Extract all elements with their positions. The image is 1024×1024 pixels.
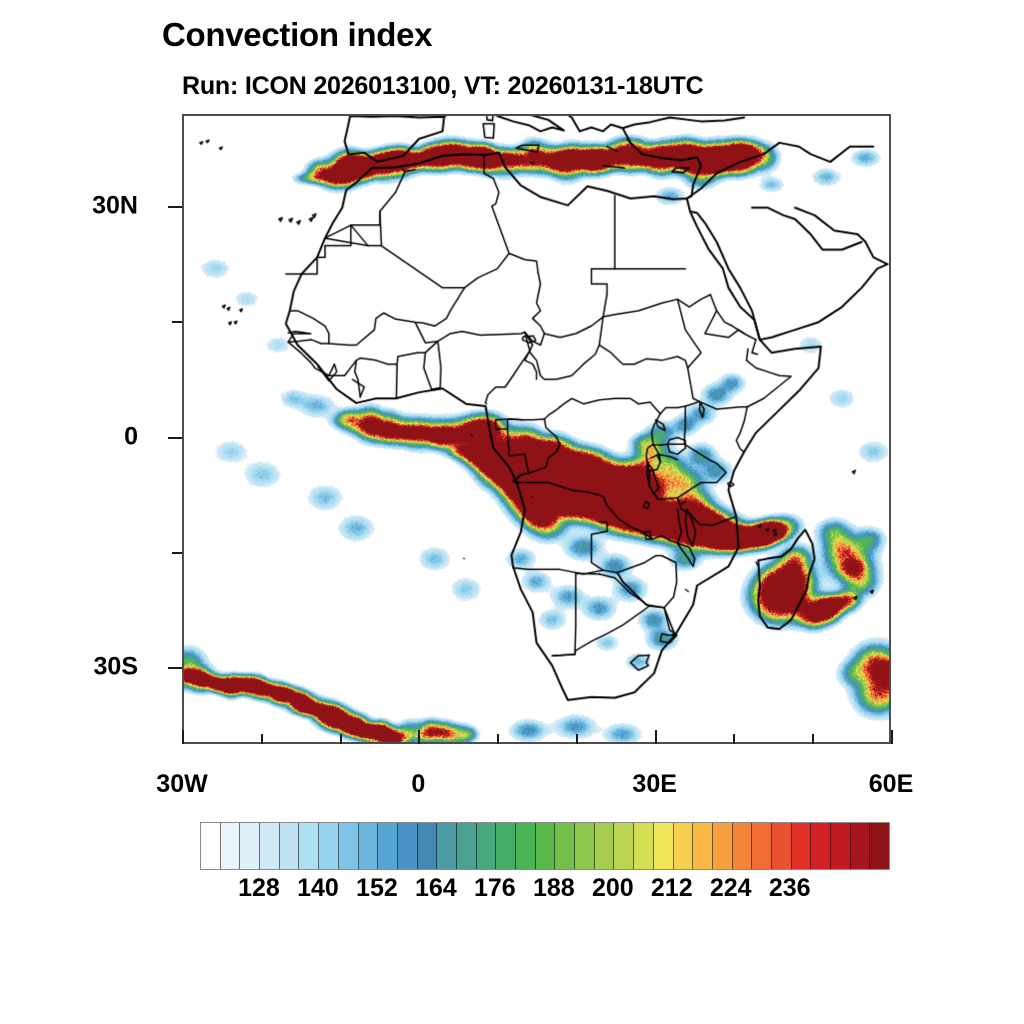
colorbar-cell — [477, 823, 497, 869]
page-title: Convection index — [162, 16, 432, 54]
colorbar-tick-label: 128 — [238, 874, 280, 903]
x-tick-major — [182, 730, 184, 744]
colorbar — [200, 822, 890, 870]
colorbar-cell — [457, 823, 477, 869]
x-tick-minor — [261, 734, 263, 744]
convection-index-raster — [184, 116, 889, 742]
colorbar-tick-label: 200 — [592, 874, 634, 903]
x-tick-major — [418, 730, 420, 744]
colorbar-cell — [575, 823, 595, 869]
colorbar-tick-label: 236 — [769, 874, 811, 903]
colorbar-cell — [398, 823, 418, 869]
colorbar-cell — [831, 823, 851, 869]
colorbar-cell — [733, 823, 753, 869]
y-tick-major — [168, 437, 182, 439]
colorbar-cell — [299, 823, 319, 869]
map-plot-area — [182, 114, 891, 744]
y-tick-label: 0 — [124, 422, 138, 451]
colorbar-tick-label: 212 — [651, 874, 693, 903]
y-tick-major — [168, 206, 182, 208]
colorbar-cell — [378, 823, 398, 869]
y-tick-minor — [172, 552, 182, 554]
colorbar-cell — [240, 823, 260, 869]
colorbar-cell — [201, 823, 221, 869]
colorbar-cell — [221, 823, 241, 869]
colorbar-cell — [752, 823, 772, 869]
colorbar-cell — [811, 823, 831, 869]
colorbar-tick-label: 140 — [297, 874, 339, 903]
x-tick-label: 30E — [632, 770, 676, 799]
colorbar-cell — [634, 823, 654, 869]
colorbar-cell — [870, 823, 889, 869]
x-axis-labels: 30W030E60E — [182, 744, 891, 804]
colorbar-cell — [772, 823, 792, 869]
colorbar-cell — [851, 823, 871, 869]
colorbar-tick-label: 224 — [710, 874, 752, 903]
colorbar-cell — [437, 823, 457, 869]
colorbar-cell — [496, 823, 516, 869]
colorbar-cell — [792, 823, 812, 869]
colorbar-cell — [595, 823, 615, 869]
convection-index-figure: Convection index Run: ICON 2026013100, V… — [0, 0, 1024, 1024]
y-tick-major — [168, 667, 182, 669]
colorbar-tick-label: 188 — [533, 874, 575, 903]
x-tick-label: 30W — [156, 770, 207, 799]
x-tick-minor — [812, 734, 814, 744]
y-tick-label: 30N — [92, 192, 138, 221]
colorbar-cell — [418, 823, 438, 869]
run-valid-time-subtitle: Run: ICON 2026013100, VT: 20260131-18UTC — [182, 72, 703, 101]
colorbar-cell — [359, 823, 379, 869]
colorbar-cell — [614, 823, 634, 869]
x-tick-minor — [576, 734, 578, 744]
y-axis-labels: 30N030S — [0, 114, 160, 744]
colorbar-cell — [536, 823, 556, 869]
colorbar-cell — [555, 823, 575, 869]
colorbar-cell — [260, 823, 280, 869]
colorbar-tick-labels: 128140152164176188200212224236 — [200, 874, 888, 914]
colorbar-cell — [713, 823, 733, 869]
colorbar-cell — [693, 823, 713, 869]
colorbar-cell — [319, 823, 339, 869]
y-tick-minor — [172, 321, 182, 323]
y-tick-label: 30S — [94, 653, 138, 682]
colorbar-cell — [654, 823, 674, 869]
colorbar-cell — [280, 823, 300, 869]
colorbar-cell — [516, 823, 536, 869]
colorbar-tick-label: 152 — [356, 874, 398, 903]
colorbar-cell — [339, 823, 359, 869]
x-tick-label: 60E — [869, 770, 913, 799]
x-tick-minor — [340, 734, 342, 744]
x-tick-major — [891, 730, 893, 744]
colorbar-tick-label: 164 — [415, 874, 457, 903]
colorbar-tick-label: 176 — [474, 874, 516, 903]
x-tick-label: 0 — [411, 770, 425, 799]
colorbar-cell — [674, 823, 694, 869]
x-tick-major — [655, 730, 657, 744]
x-tick-minor — [497, 734, 499, 744]
x-tick-minor — [733, 734, 735, 744]
